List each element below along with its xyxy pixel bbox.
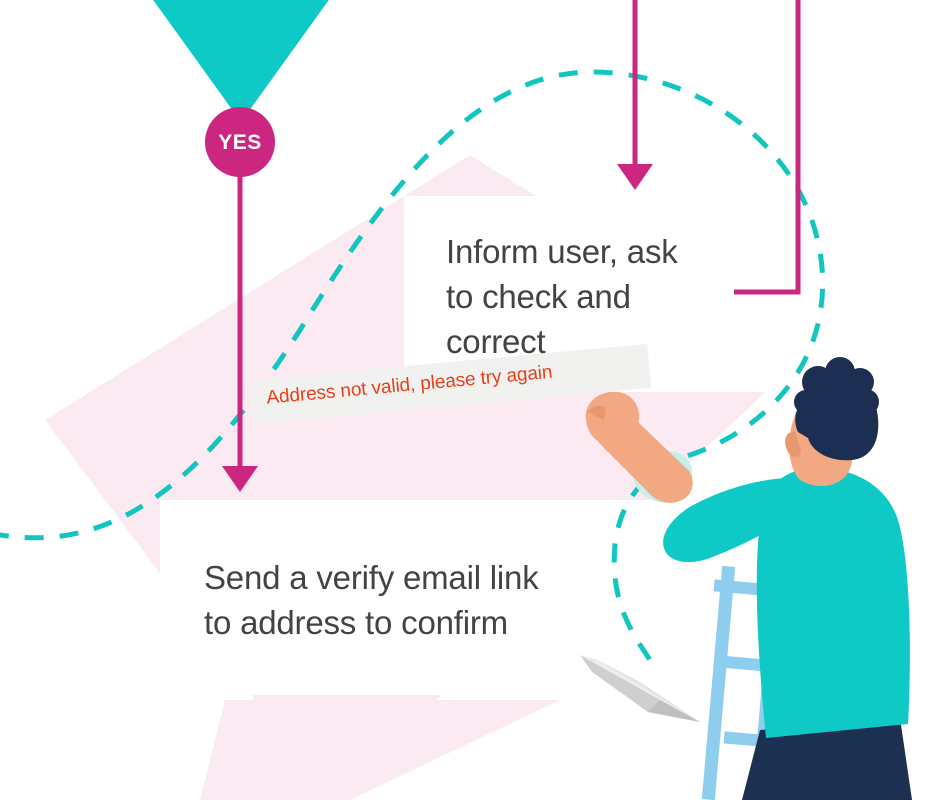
arrow-into-inform — [617, 0, 653, 190]
decision-triangle — [110, 0, 372, 122]
elbow-connector-right — [734, 0, 798, 292]
arrow-yes-to-send — [222, 176, 258, 492]
yes-badge-label: YES — [205, 108, 275, 178]
illustration-canvas: YES Inform user, ask to check and correc… — [0, 0, 950, 800]
